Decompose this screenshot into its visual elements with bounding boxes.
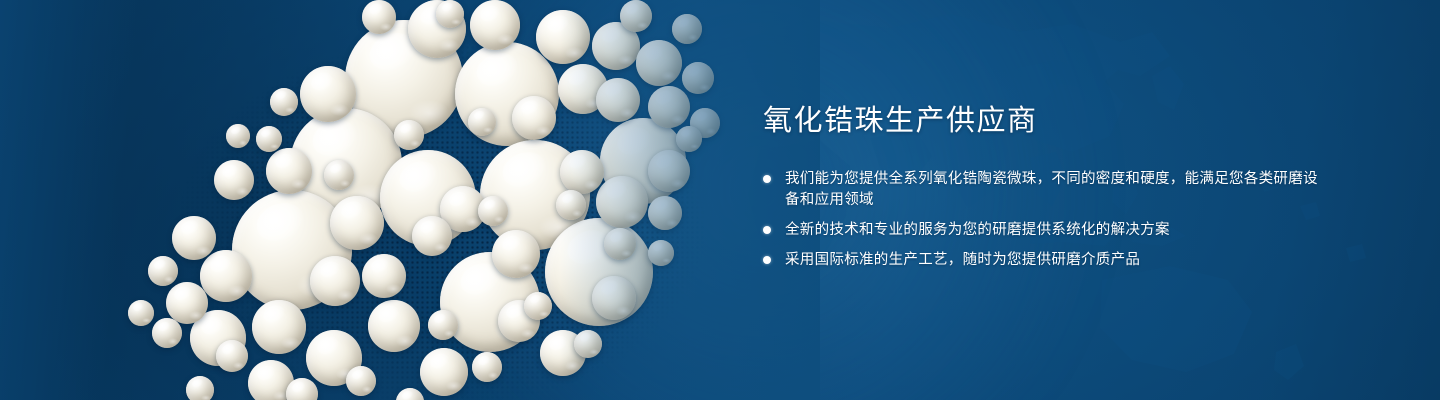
feature-text: 采用国际标准的生产工艺，随时为您提供研磨介质产品 [785, 250, 1140, 271]
list-item: 全新的技术和专业的服务为您的研磨提供系统化的解决方案 [763, 220, 1323, 241]
bullet-dot-icon [763, 226, 771, 234]
list-item: 我们能为您提供全系列氧化锆陶瓷微珠，不同的密度和硬度，能满足您各类研磨设备和应用… [763, 169, 1323, 211]
feature-text: 我们能为您提供全系列氧化锆陶瓷微珠，不同的密度和硬度，能满足您各类研磨设备和应用… [785, 169, 1323, 211]
feature-text: 全新的技术和专业的服务为您的研磨提供系统化的解决方案 [785, 220, 1170, 241]
banner-content: 氧化锆珠生产供应商 我们能为您提供全系列氧化锆陶瓷微珠，不同的密度和硬度，能满足… [763, 104, 1323, 271]
list-item: 采用国际标准的生产工艺，随时为您提供研磨介质产品 [763, 250, 1323, 271]
product-hero-banner: 氧化锆珠生产供应商 我们能为您提供全系列氧化锆陶瓷微珠，不同的密度和硬度，能满足… [0, 0, 1440, 400]
page-title: 氧化锆珠生产供应商 [763, 104, 1323, 139]
bullet-dot-icon [763, 256, 771, 264]
feature-list: 我们能为您提供全系列氧化锆陶瓷微珠，不同的密度和硬度，能满足您各类研磨设备和应用… [763, 169, 1323, 271]
bullet-dot-icon [763, 175, 771, 183]
